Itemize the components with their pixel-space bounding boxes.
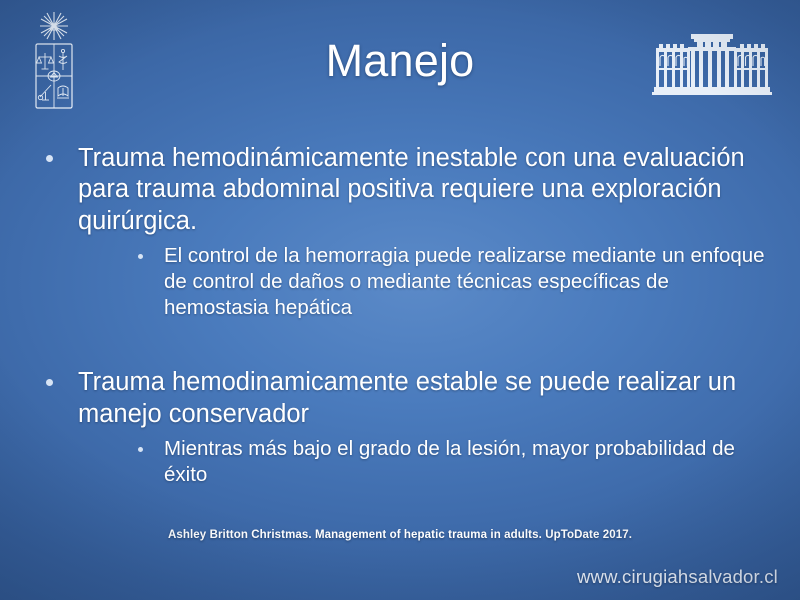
citation-text: Ashley Britton Christmas. Management of … bbox=[0, 529, 800, 541]
sub-bullet-wrap-2: Mientras más bajo el grado de la lesión,… bbox=[78, 436, 774, 488]
presentation-slide: Manejo bbox=[0, 0, 800, 600]
sub-bullet-item-2-1: Mientras más bajo el grado de la lesión,… bbox=[124, 436, 774, 488]
bullet-marker-icon bbox=[46, 155, 53, 162]
bullet-item-2: Trauma hemodinamicamente estable se pued… bbox=[34, 367, 774, 488]
bullet-list-level-1: Trauma hemodinámicamente inestable con u… bbox=[34, 143, 774, 488]
slide-body: Trauma hemodinámicamente inestable con u… bbox=[34, 143, 774, 520]
website-url: www.cirugiahsalvador.cl bbox=[577, 566, 778, 588]
bullet-item-1: Trauma hemodinámicamente inestable con u… bbox=[34, 143, 774, 321]
bullet-list-level-2: Mientras más bajo el grado de la lesión,… bbox=[124, 436, 774, 488]
sub-bullet-item-2-1-text: Mientras más bajo el grado de la lesión,… bbox=[164, 437, 735, 486]
bullet-item-1-text: Trauma hemodinámicamente inestable con u… bbox=[78, 143, 774, 237]
sub-bullet-wrap-1: El control de la hemorragia puede realiz… bbox=[78, 243, 774, 321]
sub-bullet-item-1-1-text: El control de la hemorragia puede realiz… bbox=[164, 244, 765, 319]
casa-central-building-icon bbox=[642, 30, 782, 102]
bullet-item-2-text: Trauma hemodinamicamente estable se pued… bbox=[78, 367, 774, 430]
bullet-list-level-2: El control de la hemorragia puede realiz… bbox=[124, 243, 774, 321]
sub-bullet-marker-icon bbox=[138, 447, 143, 452]
sub-bullet-item-1-1: El control de la hemorragia puede realiz… bbox=[124, 243, 774, 321]
bullet-spacer bbox=[34, 321, 774, 367]
sub-bullet-marker-icon bbox=[138, 254, 143, 259]
bullet-marker-icon bbox=[46, 379, 53, 386]
